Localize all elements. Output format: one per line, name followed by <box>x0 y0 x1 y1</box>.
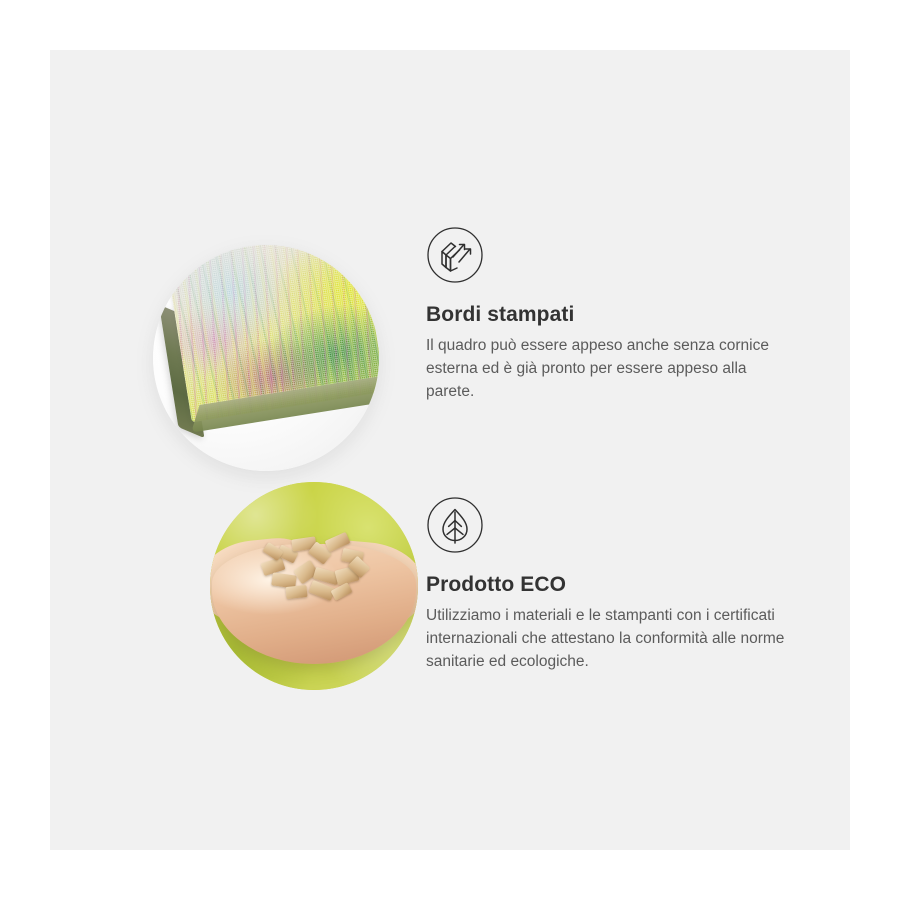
content-panel: Bordi stampati Il quadro può essere appe… <box>50 50 850 850</box>
feature-bordi-stampati: Bordi stampati Il quadro può essere appe… <box>50 190 850 450</box>
wood-chips-pile <box>258 534 376 604</box>
eco-wood-chips-photo <box>210 482 418 690</box>
feature-description: Il quadro può essere appeso anche senza … <box>426 335 796 403</box>
feature-eco-text: Prodotto ECO Utilizziamo i materiali e l… <box>426 496 796 673</box>
feature-description: Utilizziamo i materiali e le stampanti c… <box>426 605 796 673</box>
canvas-corner-photo <box>153 245 379 471</box>
feature-prodotto-eco: Prodotto ECO Utilizziamo i materiali e l… <box>50 470 850 730</box>
product-feature-infographic: Bordi stampati Il quadro può essere appe… <box>0 0 900 900</box>
feature-title: Prodotto ECO <box>426 573 796 597</box>
leaf-icon <box>426 496 796 559</box>
feature-title: Bordi stampati <box>426 303 796 327</box>
canvas-print-block <box>164 245 379 471</box>
wrapped-canvas-edge-icon <box>426 226 796 289</box>
feature-bordi-text: Bordi stampati Il quadro può essere appe… <box>426 226 796 403</box>
